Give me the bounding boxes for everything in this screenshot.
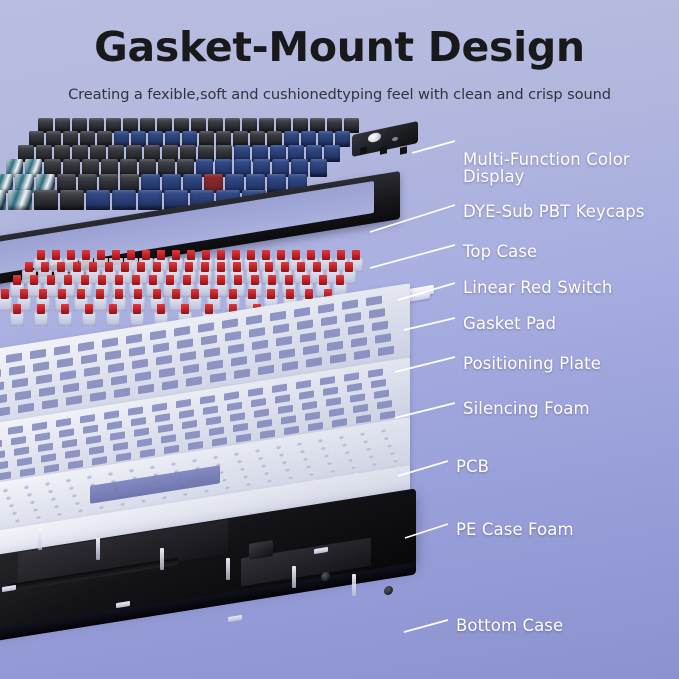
switch-stem (132, 275, 140, 285)
plate-cutout (0, 381, 4, 392)
leader-line-gasket-pad (404, 318, 455, 330)
plate-cutout (236, 433, 251, 442)
switch-stem (185, 262, 193, 272)
plate-cutout (176, 399, 191, 408)
plate-cutout (342, 299, 358, 310)
pcb-hole (240, 466, 245, 471)
plate-cutout (246, 315, 262, 326)
switch-stem (137, 262, 145, 272)
switch-stem (345, 262, 353, 272)
linear-red-switch (34, 304, 48, 326)
plate-cutout (230, 412, 245, 421)
plate-cutout (107, 421, 122, 430)
switch-stem (157, 304, 165, 314)
pcb-hole (381, 428, 386, 433)
case-support-post (292, 566, 296, 588)
pcb-hole (309, 471, 314, 476)
switch-stem (37, 250, 45, 260)
plate-cutout (158, 424, 173, 433)
pcb-hole (36, 515, 41, 520)
plate-cutout (281, 415, 296, 424)
plate-cutout (113, 442, 128, 451)
switch-stem (109, 304, 117, 314)
switch-stem (217, 275, 225, 285)
plate-cutout (44, 464, 59, 473)
switch-stem (247, 250, 255, 260)
plate-cutout (201, 335, 217, 346)
callout-multi-function-display-line2: Display (463, 168, 525, 186)
plate-cutout (6, 353, 22, 364)
plate-cutout (186, 376, 202, 387)
plate-cutout (80, 414, 95, 423)
pcb-hole (261, 463, 266, 468)
switch-stem (85, 304, 93, 314)
plate-cutout (30, 349, 46, 360)
switch-stem (149, 275, 157, 285)
callout-positioning-plate: Positioning Plate (463, 355, 601, 373)
switch-stem (121, 262, 129, 272)
pcb-hole (51, 496, 56, 501)
plate-cutout (284, 426, 299, 435)
pcb-hole (267, 478, 272, 483)
callout-dye-sub-pbt-keycaps: DYE-Sub PBT Keycaps (463, 203, 645, 221)
switch-housing (106, 312, 120, 326)
pcb-hole (285, 467, 290, 472)
pcb-hole (348, 457, 353, 462)
plate-cutout (78, 341, 94, 352)
plate-cutout (222, 318, 238, 329)
pcb-hole (12, 510, 17, 515)
pcb-hole (366, 446, 371, 451)
switch-stem (313, 262, 321, 272)
switch-stem (41, 262, 49, 272)
plate-cutout (177, 339, 193, 350)
switch-stem (47, 275, 55, 285)
pcb-hole (246, 481, 251, 486)
plate-cutout (60, 370, 76, 381)
pcb-hole (87, 475, 92, 480)
layer-top-case (0, 206, 400, 254)
case-support-post (96, 538, 100, 560)
keycap (310, 159, 327, 177)
switch-stem (172, 250, 180, 260)
plate-cutout (227, 402, 242, 411)
switch-stem (105, 262, 113, 272)
switch-stem (127, 250, 135, 260)
plate-cutout (225, 331, 241, 342)
plate-cutout (249, 327, 265, 338)
switch-stem (205, 304, 213, 314)
plate-cutout (270, 311, 286, 322)
switch-stem (229, 289, 237, 299)
callout-gasket-pad: Gasket Pad (463, 315, 556, 333)
plate-cutout (137, 438, 152, 447)
pcb-hole (129, 468, 134, 473)
plate-cutout (371, 379, 386, 388)
switch-stem (142, 250, 150, 260)
switch-stem (232, 250, 240, 260)
plate-cutout (276, 336, 292, 347)
page-subtitle: Creating a fexible,soft and cushionedtyp… (0, 86, 679, 103)
plate-cutout (65, 449, 80, 458)
plate-cutout (0, 461, 8, 470)
switch-stem (286, 289, 294, 299)
pcb-hole (360, 431, 365, 436)
switch-stem (234, 275, 242, 285)
plate-cutout (179, 409, 194, 418)
pcb-hole (387, 443, 392, 448)
switch-stem (307, 250, 315, 260)
pcb-hole (75, 500, 80, 505)
plate-cutout (156, 355, 172, 366)
switch-stem (217, 262, 225, 272)
switch-stem (233, 262, 241, 272)
linear-red-switch (82, 304, 96, 326)
plate-cutout (323, 387, 338, 396)
pcb-hole (66, 478, 71, 483)
plate-cutout (174, 326, 190, 337)
pcb-hole (78, 508, 83, 513)
switch-stem (262, 250, 270, 260)
plate-cutout (198, 322, 214, 333)
switch-stem (64, 275, 72, 285)
pcb-hole (120, 501, 125, 506)
plate-cutout (306, 357, 322, 368)
linear-red-switch (58, 304, 72, 326)
plate-cutout (260, 430, 275, 439)
plate-cutout (152, 403, 167, 412)
pcb-hole (303, 456, 308, 461)
plate-cutout (356, 414, 371, 423)
plate-cutout (207, 360, 223, 371)
plate-cutout (248, 387, 263, 396)
switch-stem (166, 275, 174, 285)
exploded-diagram-canvas: Gasket-Mount Design Creating a fexible,s… (0, 0, 679, 679)
linear-red-switch (10, 304, 24, 326)
switch-stem (285, 275, 293, 285)
case-support-post (226, 558, 230, 580)
plate-cutout (129, 346, 145, 357)
pcb-hole (288, 475, 293, 480)
plate-cutout (132, 359, 148, 370)
switch-stem (249, 262, 257, 272)
pcb-hole (351, 465, 356, 470)
plate-cutout (348, 324, 364, 335)
pcb-hole (27, 492, 32, 497)
plate-cutout (183, 364, 199, 375)
plate-cutout (162, 380, 178, 391)
plate-cutout (134, 427, 149, 436)
plate-cutout (279, 348, 295, 359)
pcb-hole (390, 451, 395, 456)
switch-stem (277, 250, 285, 260)
plate-cutout (114, 388, 130, 399)
plate-cutout (159, 367, 175, 378)
plate-cutout (297, 320, 313, 331)
plate-cutout (374, 389, 389, 398)
plate-cutout (188, 441, 203, 450)
callout-pcb: PCB (456, 458, 489, 476)
plate-cutout (251, 398, 266, 407)
switch-stem (268, 275, 276, 285)
linear-red-switch (106, 304, 120, 326)
plate-cutout (209, 427, 224, 436)
switch-stem (281, 262, 289, 272)
plate-cutout (140, 449, 155, 458)
switch-stem (13, 275, 21, 285)
switch-stem (153, 262, 161, 272)
plate-cutout (0, 440, 2, 449)
plate-cutout (300, 332, 316, 343)
plate-cutout (90, 391, 106, 402)
callout-linear-red-switch: Linear Red Switch (463, 279, 612, 297)
pcb-hole (222, 477, 227, 482)
bottom-case-clip (228, 615, 242, 622)
plate-cutout (282, 361, 298, 372)
plate-cutout (368, 368, 383, 377)
plate-cutout (305, 411, 320, 420)
switch-stem (30, 275, 38, 285)
plate-cutout (228, 343, 244, 354)
plate-cutout (57, 358, 73, 369)
switch-stem (322, 250, 330, 260)
switch-stem (77, 289, 85, 299)
switch-stem (20, 289, 28, 299)
switch-housing (10, 312, 24, 326)
plate-cutout (18, 403, 34, 414)
plate-cutout (326, 397, 341, 406)
plate-cutout (257, 419, 272, 428)
pcb-hole (33, 507, 38, 512)
pcb-hole (372, 461, 377, 466)
switch-stem (210, 289, 218, 299)
plate-cutout (41, 453, 56, 462)
plate-cutout (36, 374, 52, 385)
plate-cutout (303, 345, 319, 356)
plate-cutout (366, 296, 382, 307)
switch-stem (81, 275, 89, 285)
pcb-hole (9, 503, 14, 508)
switch-stem (115, 275, 123, 285)
plate-cutout (153, 342, 169, 353)
plate-cutout (212, 437, 227, 446)
switch-stem (169, 262, 177, 272)
plate-cutout (320, 376, 335, 385)
plate-cutout (155, 413, 170, 422)
switch-stem (297, 262, 305, 272)
switch-stem (329, 262, 337, 272)
switch-stem (265, 262, 273, 272)
pcb-hole (30, 500, 35, 505)
switch-stem (58, 289, 66, 299)
plate-cutout (110, 431, 125, 440)
leader-line-display (412, 141, 455, 153)
switch-stem (52, 250, 60, 260)
pcb-hole (141, 498, 146, 503)
switch-stem (248, 289, 256, 299)
plate-cutout (350, 393, 365, 402)
pcb-hole (306, 464, 311, 469)
plate-cutout (321, 316, 337, 327)
plate-cutout (14, 446, 29, 455)
plate-cutout (38, 443, 53, 452)
plate-cutout (92, 456, 107, 465)
pcb-hole (276, 445, 281, 450)
plate-cutout (254, 408, 269, 417)
switch-housing (58, 312, 72, 326)
switch-stem (153, 289, 161, 299)
pcb-hole (264, 470, 269, 475)
plate-cutout (54, 345, 70, 356)
case-support-post (352, 574, 356, 596)
pcb-hole (279, 452, 284, 457)
pcb-hole (339, 435, 344, 440)
pcb-hole (342, 442, 347, 447)
plate-cutout (150, 330, 166, 341)
pcb-hole (108, 471, 113, 476)
plate-cutout (273, 323, 289, 334)
switch-stem (200, 275, 208, 285)
switch-stem (292, 250, 300, 260)
pcb-hole (393, 458, 398, 463)
pcb-hole (54, 504, 59, 509)
pcb-hole (6, 495, 11, 500)
plate-cutout (185, 430, 200, 439)
plate-cutout (272, 384, 287, 393)
plate-cutout (308, 422, 323, 431)
pcb-hole (162, 495, 167, 500)
plate-cutout (353, 404, 368, 413)
switch-stem (82, 250, 90, 260)
plate-cutout (375, 333, 391, 344)
switch-stem (319, 275, 327, 285)
plate-cutout (332, 418, 347, 427)
switch-stem (133, 304, 141, 314)
plate-cutout (324, 328, 340, 339)
plate-cutout (104, 410, 119, 419)
switch-stem (202, 250, 210, 260)
pcb-hole (72, 493, 77, 498)
pcb-hole (24, 484, 29, 489)
pcb-hole (297, 441, 302, 446)
plate-cutout (351, 337, 367, 348)
plate-cutout (39, 386, 55, 397)
plate-cutout (278, 405, 293, 414)
plate-cutout (66, 395, 82, 406)
plate-cutout (128, 406, 143, 415)
plate-cutout (126, 334, 142, 345)
plate-cutout (15, 390, 31, 401)
switch-stem (37, 304, 45, 314)
plate-cutout (0, 369, 1, 380)
pcb-hole (321, 445, 326, 450)
plate-cutout (59, 428, 74, 437)
pcb-hole (243, 474, 248, 479)
plate-cutout (258, 365, 274, 376)
switch-stem (25, 262, 33, 272)
switch-stem (97, 250, 105, 260)
plate-cutout (9, 365, 25, 376)
plate-cutout (372, 321, 388, 332)
switch-stem (98, 275, 106, 285)
pcb-hole (282, 460, 287, 465)
plate-cutout (0, 450, 5, 459)
case-support-post (160, 548, 164, 570)
pcb-hole (183, 491, 188, 496)
plate-cutout (275, 394, 290, 403)
plate-cutout (296, 380, 311, 389)
plate-cutout (11, 436, 26, 445)
plate-cutout (89, 446, 104, 455)
pcb-hole (324, 453, 329, 458)
plate-cutout (17, 457, 32, 466)
pcb-hole (237, 459, 242, 464)
pcb-hole (192, 458, 197, 463)
pcb-hole (258, 455, 263, 460)
plate-cutout (138, 384, 154, 395)
pcb-hole (225, 485, 230, 490)
switch-stem (352, 250, 360, 260)
plate-cutout (56, 418, 71, 427)
callout-top-case: Top Case (463, 243, 537, 261)
switch-stem (251, 275, 259, 285)
plate-cutout (81, 354, 97, 365)
plate-cutout (302, 401, 317, 410)
switch-stem (217, 250, 225, 260)
pcb-hole (99, 505, 104, 510)
plate-cutout (111, 375, 127, 386)
switch-stem (336, 275, 344, 285)
plate-cutout (294, 307, 310, 318)
plate-cutout (299, 390, 314, 399)
switch-stem (67, 250, 75, 260)
plate-cutout (347, 383, 362, 392)
plate-cutout (255, 352, 271, 363)
plate-cutout (210, 372, 226, 383)
switch-stem (96, 289, 104, 299)
switch-stem (305, 289, 313, 299)
switch-stem (57, 262, 65, 272)
plate-cutout (204, 347, 220, 358)
switch-stem (157, 250, 165, 260)
pcb-hole (69, 485, 74, 490)
plate-cutout (87, 379, 103, 390)
pcb-hole (171, 461, 176, 466)
pcb-hole (300, 449, 305, 454)
plate-cutout (380, 411, 395, 420)
plate-cutout (318, 303, 334, 314)
switch-stem (187, 250, 195, 260)
plate-cutout (0, 407, 10, 418)
plate-cutout (330, 353, 346, 364)
plate-cutout (116, 452, 131, 461)
plate-cutout (8, 425, 23, 434)
bottom-case-screw (384, 585, 393, 595)
plate-cutout (63, 383, 79, 394)
plate-cutout (354, 349, 370, 360)
pcb-hole (150, 465, 155, 470)
switch-stem (1, 289, 9, 299)
switch-stem (112, 250, 120, 260)
switch-stem (201, 262, 209, 272)
plate-cutout (180, 351, 196, 362)
plate-cutout (252, 340, 268, 351)
plate-cutout (182, 420, 197, 429)
pcb-hole (204, 488, 209, 493)
switch-stem (13, 304, 21, 314)
plate-cutout (62, 439, 77, 448)
pcb-hole (384, 435, 389, 440)
